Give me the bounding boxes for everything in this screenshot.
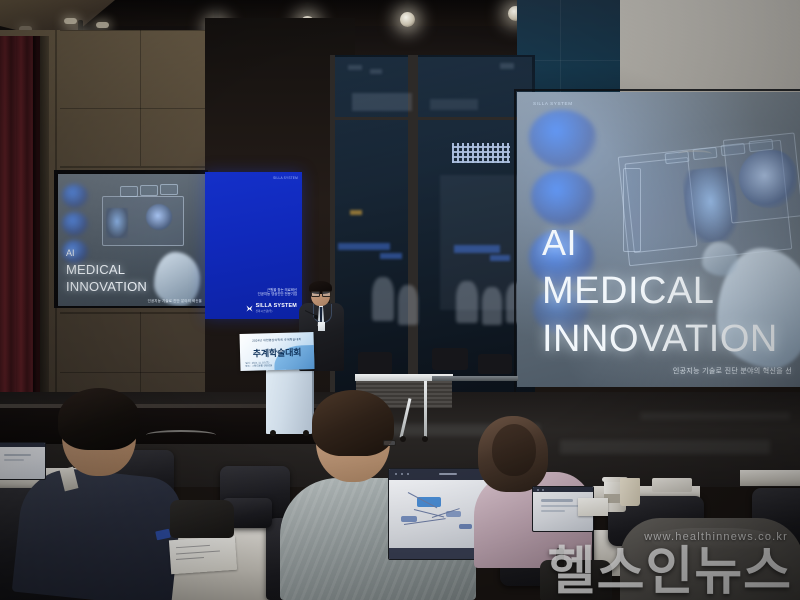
table-caster (422, 436, 428, 442)
audience-reflection (372, 277, 394, 321)
wall-seam (60, 108, 215, 109)
diagram-node (459, 524, 472, 529)
audience-reflection (398, 285, 418, 325)
diagram-node (401, 516, 417, 522)
content-block (4, 459, 24, 461)
audience-table (740, 470, 800, 486)
attendee-pink-head (492, 424, 536, 476)
ui-overlay-panel (723, 132, 800, 223)
laptop-screen[interactable] (0, 442, 46, 480)
content-block (4, 454, 31, 456)
ui-overlay-tab (120, 186, 138, 197)
recessed-light (64, 18, 77, 24)
monitor-title-line2: MEDICAL (66, 262, 125, 277)
ui-sidebar-panel (623, 168, 641, 252)
projection-title-line3: INNOVATION (542, 318, 778, 361)
wall-seam (140, 30, 141, 166)
stage-cable (146, 430, 216, 440)
content-block (541, 510, 565, 512)
attendee-gray-glasses-icon (383, 440, 396, 446)
floor-reflection (560, 440, 770, 454)
banner-korean-text: 근원을 찾는 의료혁신 인공지능 영상진단 전문기업 (258, 288, 297, 297)
floor-reflection (640, 412, 790, 420)
podium-sign: 2024년 대한영상의학회 추계학술대회 추계학술대회 일시 : 2024. 1… (239, 332, 314, 371)
brain-scan-visual (62, 184, 88, 208)
audience-reflection (482, 287, 502, 325)
monitor-title-line3: INNOVATION (66, 279, 147, 294)
projection-subtitle: 인공지능 기술로 진단 분야의 혁신을 선 (673, 366, 792, 376)
window-blue-reflection (454, 245, 500, 253)
wall-seam (60, 312, 215, 314)
speaker-badge (318, 322, 325, 331)
sign-top-line: 2024년 대한영상의학회 추계학술대회 (240, 337, 314, 343)
wall-seam (60, 166, 215, 168)
window-reflection (430, 99, 478, 110)
brain-scan-visual (531, 170, 595, 226)
podium-caster (270, 430, 276, 436)
brain-scan-visual (62, 212, 88, 236)
skull-scan-thumb (146, 204, 172, 230)
banner-top-label: SILLA SYSTEM (273, 176, 298, 180)
speaker-lanyard (313, 304, 332, 323)
table-caster (400, 436, 406, 442)
shoulder-bag (170, 500, 234, 538)
monitor-title-line1: AI (66, 248, 75, 258)
ui-overlay-tab (160, 184, 178, 195)
window-reflection-warm (350, 210, 362, 215)
paper-bag (620, 478, 640, 506)
attendee-gray-hair (312, 390, 394, 456)
sign-bottom-lines: 일시 : 2024. 11. 16 (토) 장소 : 그랜드볼룸 컨벤션홀 (245, 361, 272, 368)
laptop-content (0, 448, 42, 472)
banner-logo: SILLA SYSTEM 신라시스템(주) (245, 303, 297, 313)
projection-title-line1: AI (542, 222, 577, 264)
wall-seam (60, 372, 215, 373)
window-reflection (500, 63, 514, 69)
stage-cable (678, 150, 712, 158)
window-mullion (330, 117, 535, 120)
table-leg (424, 381, 427, 437)
wall-seam (140, 312, 141, 404)
handout-papers (169, 536, 237, 575)
main-projection-screen: SILLA SYSTEM AI MEDICAL INNOVATION 인공지능 … (517, 92, 800, 387)
far-chair (478, 354, 512, 374)
brain-scan-visual (529, 110, 597, 168)
window-reflection (370, 69, 382, 74)
spotlight (400, 12, 415, 27)
window-blue-reflection (338, 243, 390, 250)
watermark-brand: 헬스인뉴스 (548, 546, 792, 598)
laptop-menubar (533, 487, 593, 492)
banner-korean-line2: 인공지능 영상진단 전문기업 (258, 292, 297, 297)
confidence-monitor: AI MEDICAL INNOVATION 인공지능 기술로 진단 분야의 혁신… (57, 173, 207, 307)
podium-caster (303, 430, 309, 436)
speaker-glasses-icon (311, 291, 330, 295)
projection-title-line2: MEDICAL (542, 270, 714, 313)
banner-logo-sub: 신라시스템(주) (256, 309, 297, 313)
window-reflection (348, 65, 362, 70)
desk-papers (578, 498, 608, 516)
conference-photo: AI MEDICAL INNOVATION 인공지능 기술로 진단 분야의 혁신… (0, 0, 800, 600)
diagram-edge (413, 509, 443, 517)
far-table (432, 376, 518, 381)
microphone-head (314, 315, 318, 319)
window-blue-reflection (380, 253, 402, 259)
chest-scan-thumb (106, 208, 128, 238)
projection-logo-text: SILLA SYSTEM (533, 101, 573, 106)
content-block (541, 505, 581, 507)
window-reflection (352, 93, 412, 111)
laptop-menubar (389, 469, 493, 480)
sign-main-title: 추계학술대회 (240, 345, 314, 360)
wall-seam (60, 30, 215, 31)
recessed-light (96, 22, 109, 28)
silla-system-logo-icon (245, 304, 254, 313)
ui-overlay-tab (140, 185, 158, 196)
far-chair (358, 352, 392, 374)
sign-bottom-line2: 장소 : 그랜드볼룸 컨벤션홀 (245, 364, 272, 368)
laptop-menubar (0, 443, 45, 447)
monitor-subtitle: 인공지능 기술로 진단 분야의 혁신을 (148, 298, 202, 303)
attendee-navy-hair (58, 388, 140, 450)
watermark-url: www.healthinnews.co.kr (644, 531, 788, 543)
content-block (541, 499, 573, 502)
small-white-box (652, 478, 692, 492)
audience-reflection (456, 281, 478, 323)
led-ceiling-reflection (452, 143, 510, 163)
far-chair (432, 348, 468, 370)
pullup-banner: SILLA SYSTEM 근원을 찾는 의료혁신 인공지능 영상진단 전문기업 … (205, 172, 302, 319)
window-blue-reflection (490, 255, 510, 261)
